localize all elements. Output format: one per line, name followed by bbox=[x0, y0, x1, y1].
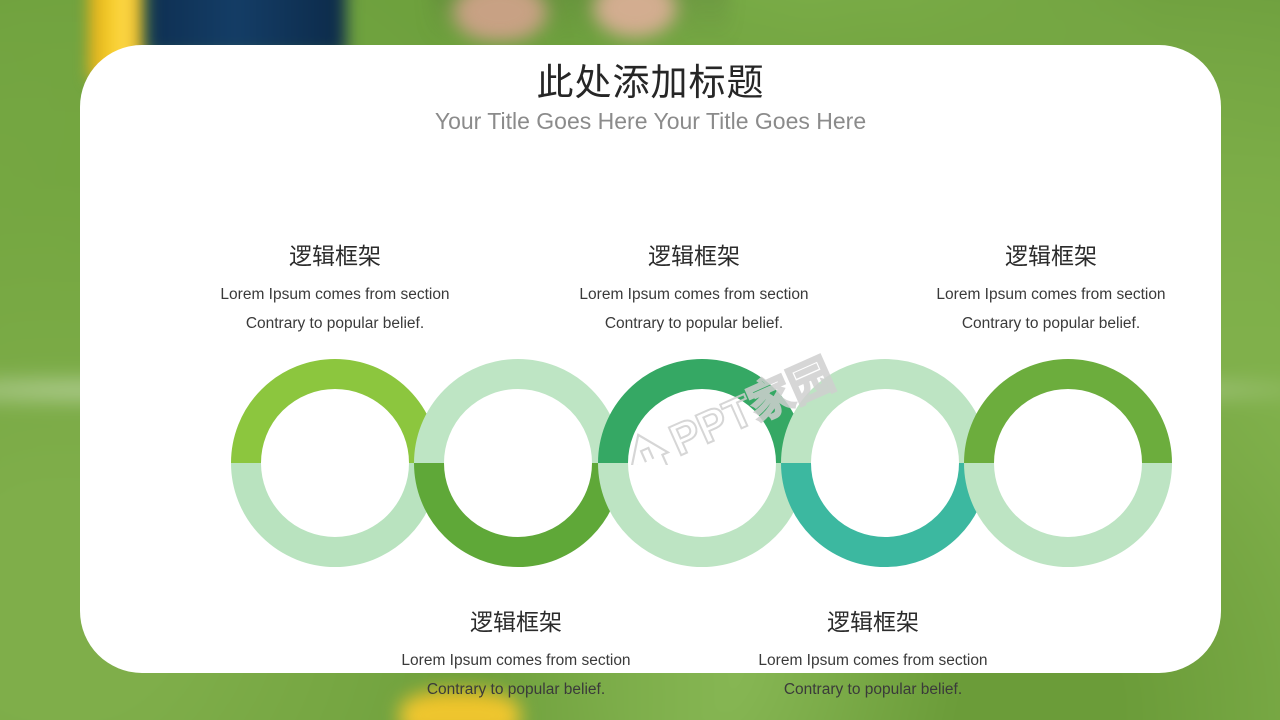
caption-5-line2: Contrary to popular belief. bbox=[723, 675, 1023, 704]
caption-5: 逻辑框架 Lorem Ipsum comes from section Cont… bbox=[723, 607, 1023, 704]
caption-4-title: 逻辑框架 bbox=[366, 607, 666, 638]
slide-canvas: 此处添加标题 Your Title Goes Here Your Title G… bbox=[0, 0, 1280, 720]
watermark-text: PPT家园 bbox=[663, 350, 842, 465]
caption-1: 逻辑框架 Lorem Ipsum comes from section Cont… bbox=[185, 241, 485, 338]
caption-1-title: 逻辑框架 bbox=[185, 241, 485, 272]
caption-3-line1: Lorem Ipsum comes from section bbox=[901, 280, 1201, 309]
caption-3-line2: Contrary to popular belief. bbox=[901, 309, 1201, 338]
background-player-legs bbox=[430, 0, 730, 42]
ring-2 bbox=[429, 374, 607, 552]
caption-2-line1: Lorem Ipsum comes from section bbox=[544, 280, 844, 309]
caption-2: 逻辑框架 Lorem Ipsum comes from section Cont… bbox=[544, 241, 844, 338]
content-card: 此处添加标题 Your Title Goes Here Your Title G… bbox=[80, 45, 1221, 673]
caption-3: 逻辑框架 Lorem Ipsum comes from section Cont… bbox=[901, 241, 1201, 338]
caption-5-line1: Lorem Ipsum comes from section bbox=[723, 646, 1023, 675]
caption-1-line1: Lorem Ipsum comes from section bbox=[185, 280, 485, 309]
caption-4-line1: Lorem Ipsum comes from section bbox=[366, 646, 666, 675]
page-subtitle: Your Title Goes Here Your Title Goes Her… bbox=[80, 105, 1221, 137]
page-title: 此处添加标题 bbox=[80, 59, 1221, 107]
caption-1-line2: Contrary to popular belief. bbox=[185, 309, 485, 338]
caption-2-title: 逻辑框架 bbox=[544, 241, 844, 272]
watermark-logo: PPT家园 bbox=[600, 345, 860, 465]
caption-2-line2: Contrary to popular belief. bbox=[544, 309, 844, 338]
ring-4 bbox=[796, 374, 974, 552]
ring-3 bbox=[613, 374, 791, 552]
ring-5 bbox=[979, 374, 1157, 552]
caption-3-title: 逻辑框架 bbox=[901, 241, 1201, 272]
ring-chain-diagram bbox=[80, 45, 1221, 673]
caption-4: 逻辑框架 Lorem Ipsum comes from section Cont… bbox=[366, 607, 666, 704]
caption-4-line2: Contrary to popular belief. bbox=[366, 675, 666, 704]
caption-5-title: 逻辑框架 bbox=[723, 607, 1023, 638]
ring-1 bbox=[246, 374, 424, 552]
